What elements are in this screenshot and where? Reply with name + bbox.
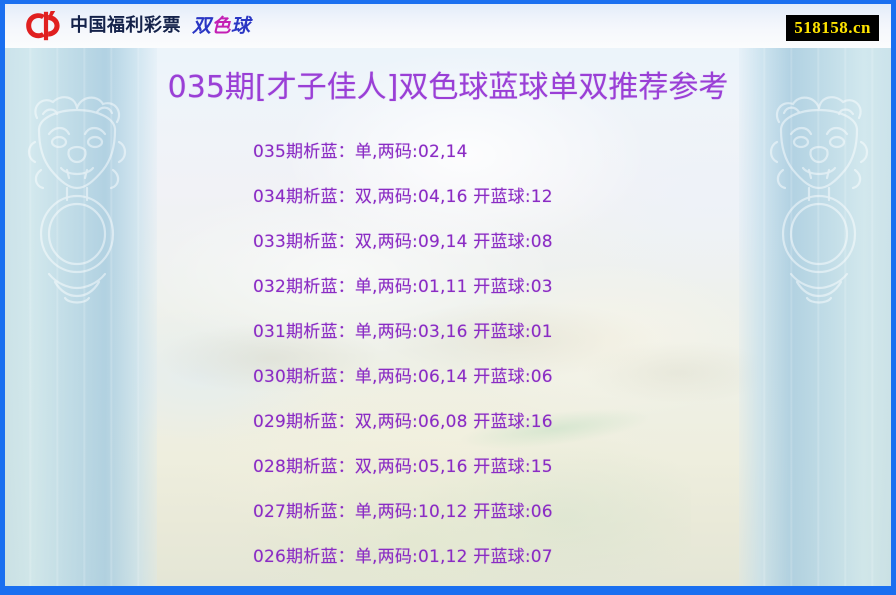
list-item: 032期析蓝：单,两码:01,11 开蓝球:03 <box>253 265 871 310</box>
brand-name-ssq: 双色球 <box>192 17 251 36</box>
list-item: 030期析蓝：单,两码:06,14 开蓝球:06 <box>253 355 871 400</box>
list-item: 026期析蓝：单,两码:01,12 开蓝球:07 <box>253 535 871 580</box>
brand-name-cn: 中国福利彩票 <box>70 17 181 35</box>
page-title: 035期[才子佳人]双色球蓝球单双推荐参考 <box>5 62 891 106</box>
ssq-char-1: 双 <box>192 15 212 37</box>
main-content: 035期[才子佳人]双色球蓝球单双推荐参考 035期析蓝：单,两码:02,14 … <box>5 48 891 586</box>
list-item: 035期析蓝：单,两码:02,14 <box>253 130 871 175</box>
list-item: 031期析蓝：单,两码:03,16 开蓝球:01 <box>253 310 871 355</box>
brand-lockup: 中国福利彩票 双色球 <box>25 11 251 41</box>
list-item: 029期析蓝：双,两码:06,08 开蓝球:16 <box>253 400 871 445</box>
list-item: 034期析蓝：双,两码:04,16 开蓝球:12 <box>253 175 871 220</box>
forecast-list: 035期析蓝：单,两码:02,14 034期析蓝：双,两码:04,16 开蓝球:… <box>253 130 871 580</box>
ssq-char-3: 球 <box>231 15 251 37</box>
list-item: 028期析蓝：双,两码:05,16 开蓝球:15 <box>253 445 871 490</box>
site-watermark: 518158.cn <box>786 15 879 41</box>
china-welfare-lottery-emblem-icon <box>25 11 61 41</box>
ssq-char-2: 色 <box>212 15 232 37</box>
list-item: 033期析蓝：双,两码:09,14 开蓝球:08 <box>253 220 871 265</box>
site-header: 中国福利彩票 双色球 518158.cn <box>5 4 891 48</box>
list-item: 027期析蓝：单,两码:10,12 开蓝球:06 <box>253 490 871 535</box>
page-root: 中国福利彩票 双色球 518158.cn 035期[才子佳人]双色球蓝球单双推荐… <box>0 0 896 595</box>
